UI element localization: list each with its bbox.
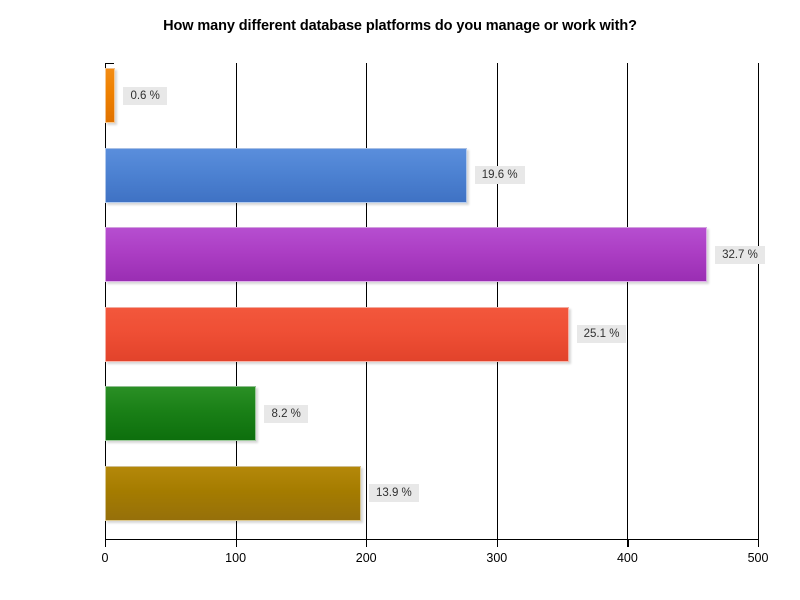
x-axis-tick-label: 300 xyxy=(486,551,507,565)
x-axis-tick-label: 500 xyxy=(748,551,769,565)
bar[interactable] xyxy=(105,307,569,362)
bar-row[interactable]: 32.7 % xyxy=(105,227,758,282)
x-axis-tick xyxy=(497,539,498,547)
x-axis-tick xyxy=(236,539,237,547)
x-axis-tick-label: 100 xyxy=(225,551,246,565)
gridline xyxy=(758,63,759,540)
x-axis-tick xyxy=(627,539,628,547)
bar-row[interactable]: 25.1 % xyxy=(105,307,758,362)
bar-row[interactable]: 0.6 % xyxy=(105,68,758,123)
x-axis-tick-label: 200 xyxy=(356,551,377,565)
bar[interactable] xyxy=(105,466,361,521)
bar[interactable] xyxy=(105,227,707,282)
plot-area: 0.6 %19.6 %32.7 %25.1 %8.2 %13.9 % xyxy=(105,63,758,540)
x-axis-tick-label: 400 xyxy=(617,551,638,565)
bar-row[interactable]: 13.9 % xyxy=(105,466,758,521)
bar-row[interactable]: 8.2 % xyxy=(105,386,758,441)
x-axis-tick-label: 0 xyxy=(102,551,109,565)
bar-value-label: 32.7 % xyxy=(715,246,765,264)
bar-value-label: 25.1 % xyxy=(577,325,627,343)
bar[interactable] xyxy=(105,386,256,441)
bar[interactable] xyxy=(105,148,467,203)
bar-value-label: 19.6 % xyxy=(475,166,525,184)
bar-value-label: 8.2 % xyxy=(264,405,307,423)
chart-title: How many different database platforms do… xyxy=(0,18,800,34)
bar-value-label: 13.9 % xyxy=(369,484,419,502)
x-axis-tick xyxy=(105,539,106,547)
bar-chart-figure: How many different database platforms do… xyxy=(0,0,800,600)
bar[interactable] xyxy=(105,68,115,123)
x-axis-tick xyxy=(366,539,367,547)
x-axis-tick xyxy=(758,539,759,547)
bar-row[interactable]: 19.6 % xyxy=(105,148,758,203)
bar-value-label: 0.6 % xyxy=(123,87,166,105)
